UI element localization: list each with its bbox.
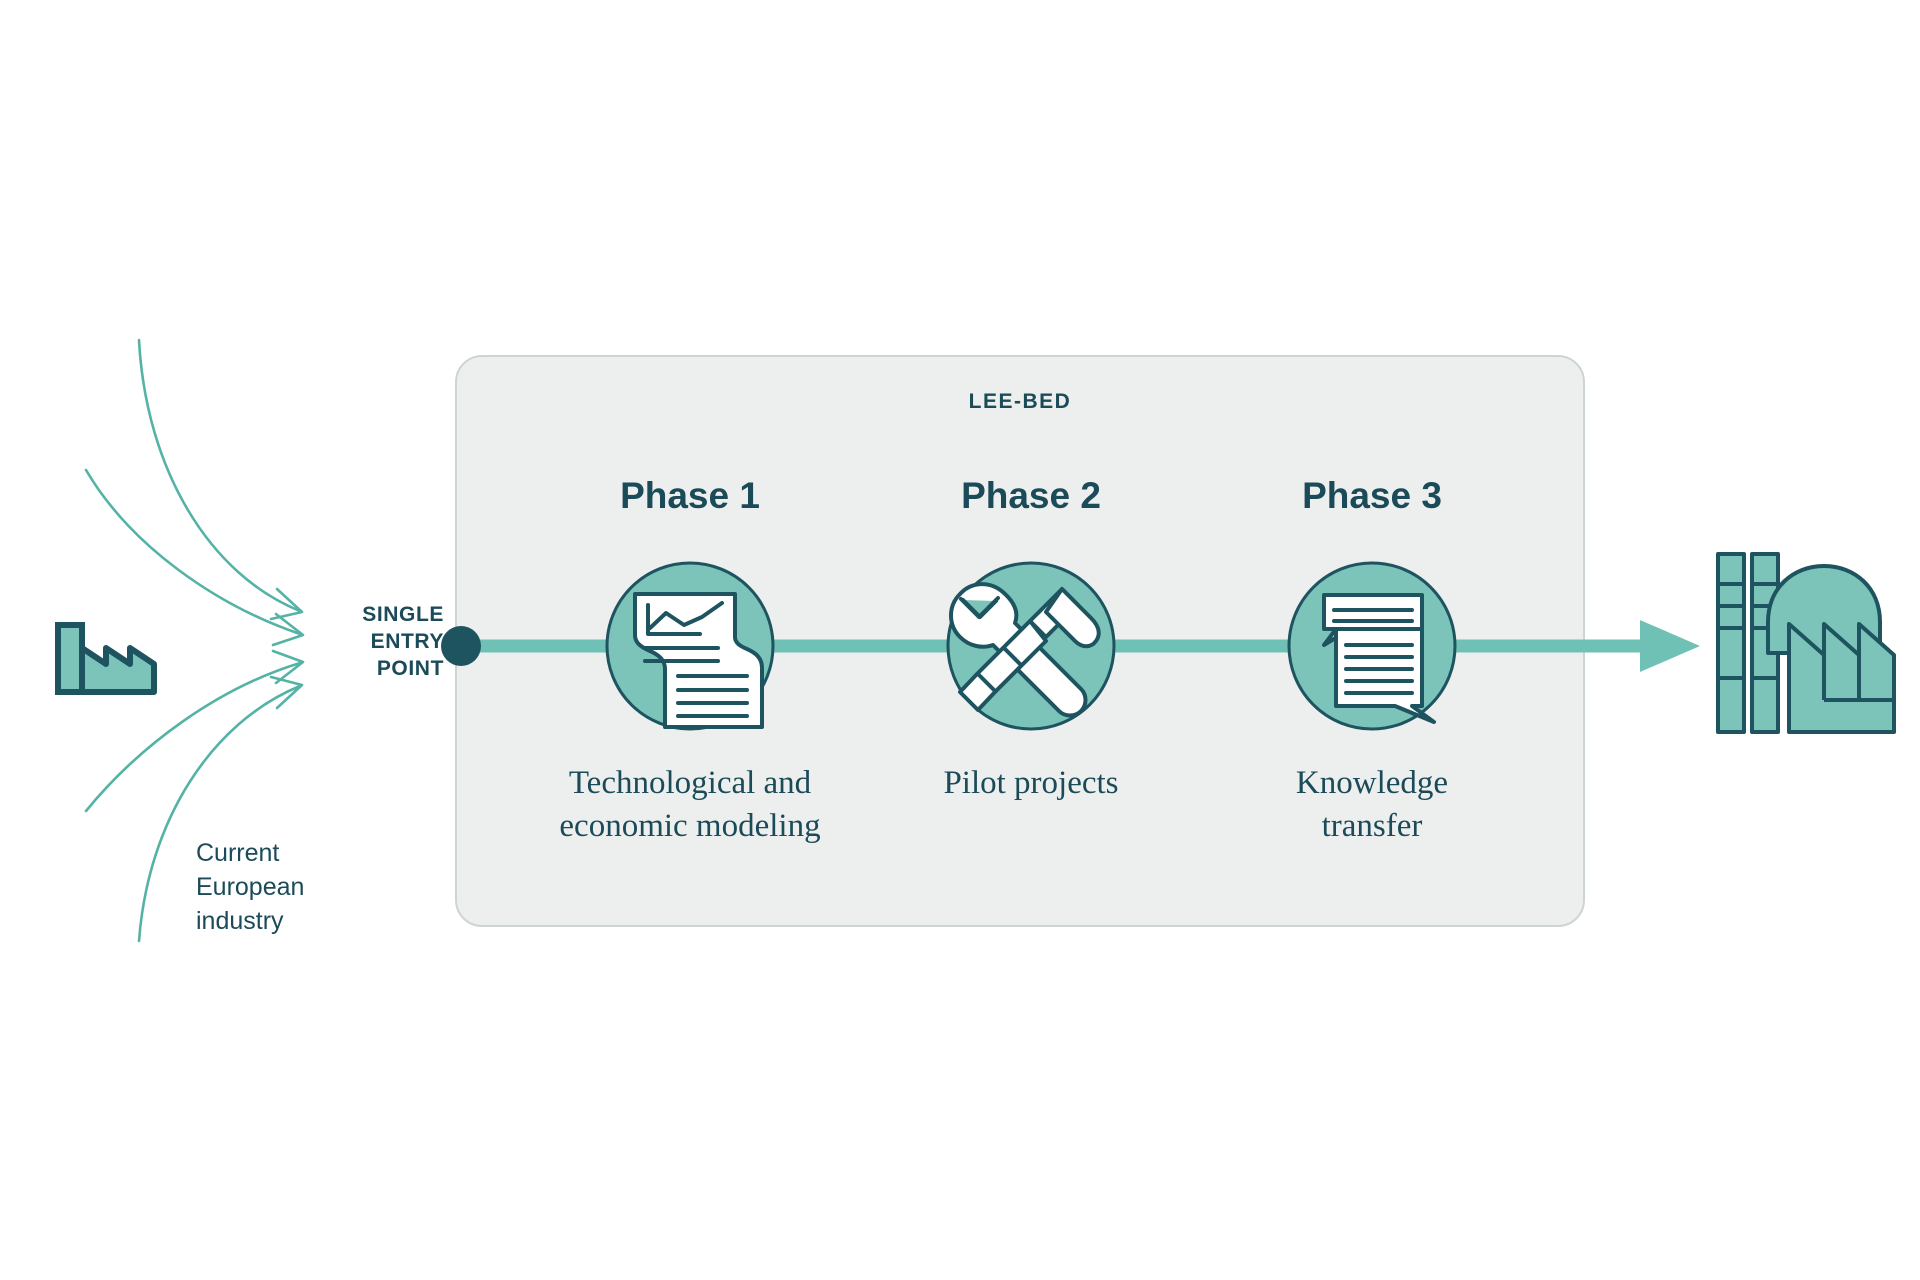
phase-3-caption: Knowledge transfer [1207,762,1537,848]
input-arrow-2 [86,470,300,634]
phase-2-node[interactable] [948,563,1114,729]
phase-3-caption-line-1: Knowledge [1207,762,1537,805]
phase-2-heading: Phase 2 [866,475,1196,517]
diagram-canvas: SINGLE ENTRY POINT Current European indu… [0,0,1920,1280]
entry-label-line-1: SINGLE [330,601,444,628]
flow-arrowhead [1640,620,1700,672]
phase-3-heading-wrap: Phase 3 [1207,475,1537,517]
phase-3-caption-line-2: transfer [1207,805,1537,848]
current-european-industry-label: Current European industry [196,836,376,938]
phase-1-caption-line-1: Technological and [525,762,855,805]
single-entry-point-label: SINGLE ENTRY POINT [330,601,444,682]
single-entry-point-dot [441,626,481,666]
input-arrow-1 [139,340,300,611]
phase-3-heading: Phase 3 [1207,475,1537,517]
phase-3-node[interactable] [1289,563,1455,729]
input-label-line-1: Current [196,836,376,870]
phase-1-caption: Technological and economic modeling [525,762,855,848]
phase-2-caption: Pilot projects [866,762,1196,805]
entry-label-line-3: POINT [330,655,444,682]
phase-2-caption-line-1: Pilot projects [866,762,1196,805]
input-label-line-3: industry [196,904,376,938]
entry-label-line-2: ENTRY [330,628,444,655]
phase-1-caption-line-2: economic modeling [525,805,855,848]
phase-1-node[interactable] [607,563,773,729]
lee-bed-title: LEE-BED [455,390,1585,414]
phase-2-heading-wrap: Phase 2 [866,475,1196,517]
phase-1-heading: Phase 1 [525,475,855,517]
input-label-line-2: European [196,870,376,904]
phase-1-heading-wrap: Phase 1 [525,475,855,517]
large-factory-complex-icon [1718,554,1894,732]
input-arrowheads-group [271,589,303,708]
diagram-graphics [0,0,1920,1280]
speech-bubble-documents-icon [1324,595,1434,722]
small-factory-icon [58,625,154,692]
